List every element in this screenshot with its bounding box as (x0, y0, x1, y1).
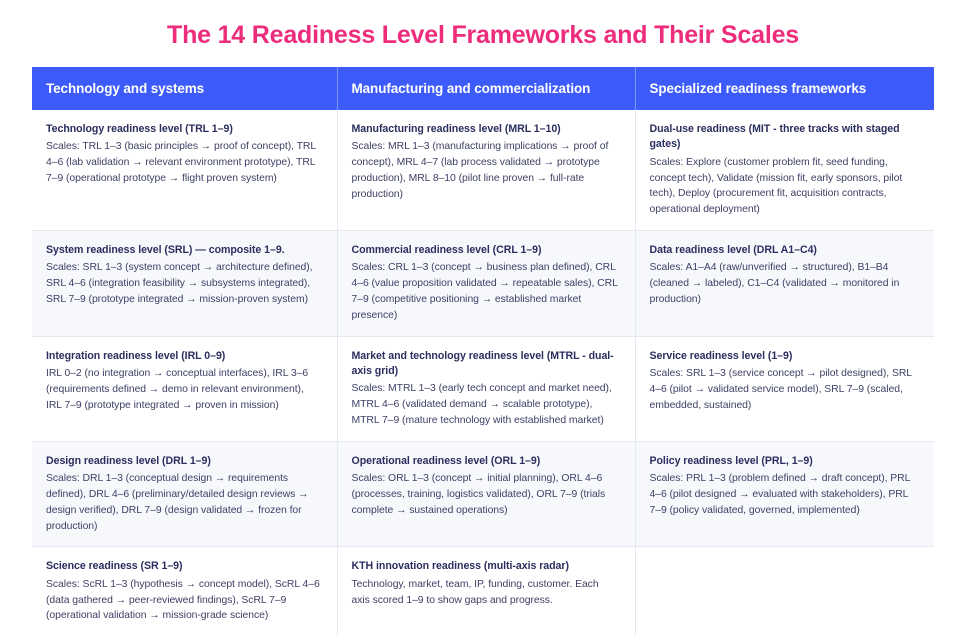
table-body: Technology readiness level (TRL 1–9) Sca… (32, 110, 934, 636)
table-cell-mrl: Manufacturing readiness level (MRL 1–10)… (337, 110, 635, 230)
cell-title: Service readiness level (1–9) (650, 349, 920, 364)
table-cell-kth: KTH innovation readiness (multi-axis rad… (337, 547, 635, 636)
cell-title: Policy readiness level (PRL, 1–9) (650, 454, 920, 469)
slide-root: The 14 Readiness Level Frameworks and Th… (0, 0, 966, 543)
cell-title: Dual-use readiness (MIT - three tracks w… (650, 122, 920, 153)
cell-body: Scales: SRL 1–3 (system concept → archit… (46, 260, 322, 307)
cell-body: Scales: TRL 1–3 (basic principles → proo… (46, 139, 322, 186)
table-cell-trl: Technology readiness level (TRL 1–9) Sca… (32, 110, 337, 230)
table-cell-crl: Commercial readiness level (CRL 1–9) Sca… (337, 230, 635, 336)
cell-body: Scales: PRL 1–3 (problem defined → draft… (650, 471, 920, 518)
cell-body: Technology, market, team, IP, funding, c… (352, 577, 620, 609)
cell-title: Operational readiness level (ORL 1–9) (352, 454, 620, 469)
column-header-technology-and-systems: Technology and systems (32, 67, 337, 110)
cell-body: Scales: ScRL 1–3 (hypothesis → concept m… (46, 577, 322, 624)
cell-body: Scales: ORL 1–3 (concept → initial plann… (352, 471, 620, 518)
cell-body: Scales: DRL 1–3 (conceptual design → req… (46, 471, 322, 534)
table-cell-design-rl: Design readiness level (DRL 1–9) Scales:… (32, 441, 337, 547)
table-cell-data-rl: Data readiness level (DRL A1–C4) Scales:… (635, 230, 934, 336)
cell-title: Manufacturing readiness level (MRL 1–10) (352, 122, 620, 137)
table-row: Design readiness level (DRL 1–9) Scales:… (32, 441, 934, 547)
cell-body: Scales: SRL 1–3 (service concept → pilot… (650, 366, 920, 413)
table-row: Technology readiness level (TRL 1–9) Sca… (32, 110, 934, 230)
table-cell-service-rl: Service readiness level (1–9) Scales: SR… (635, 336, 934, 441)
frameworks-table-container: Technology and systems Manufacturing and… (32, 67, 934, 636)
table-cell-science-rl: Science readiness (SR 1–9) Scales: ScRL … (32, 547, 337, 636)
table-cell-orl: Operational readiness level (ORL 1–9) Sc… (337, 441, 635, 547)
table-header: Technology and systems Manufacturing and… (32, 67, 934, 110)
page-title: The 14 Readiness Level Frameworks and Th… (0, 0, 966, 50)
cell-title: System readiness level (SRL) — composite… (46, 243, 322, 258)
table-cell-mtrl: Market and technology readiness level (M… (337, 336, 635, 441)
table-cell-irl: Integration readiness level (IRL 0–9) IR… (32, 336, 337, 441)
cell-body: Scales: MTRL 1–3 (early tech concept and… (352, 381, 620, 428)
cell-body: IRL 0–2 (no integration → conceptual int… (46, 366, 322, 413)
table-cell-empty (635, 547, 934, 636)
cell-body: Scales: Explore (customer problem fit, s… (650, 155, 920, 218)
cell-title: Market and technology readiness level (M… (352, 349, 620, 380)
cell-title: Science readiness (SR 1–9) (46, 559, 322, 574)
table-cell-dual-use: Dual-use readiness (MIT - three tracks w… (635, 110, 934, 230)
cell-title: Technology readiness level (TRL 1–9) (46, 122, 322, 137)
column-header-manufacturing-and-commercialization: Manufacturing and commercialization (337, 67, 635, 110)
cell-body: Scales: MRL 1–3 (manufacturing implicati… (352, 139, 620, 202)
table-row: System readiness level (SRL) — composite… (32, 230, 934, 336)
frameworks-table: Technology and systems Manufacturing and… (32, 67, 934, 636)
cell-body: Scales: A1–A4 (raw/unverified → structur… (650, 260, 920, 307)
table-cell-prl: Policy readiness level (PRL, 1–9) Scales… (635, 441, 934, 547)
header-row: Technology and systems Manufacturing and… (32, 67, 934, 110)
table-row: Science readiness (SR 1–9) Scales: ScRL … (32, 547, 934, 636)
cell-title: Data readiness level (DRL A1–C4) (650, 243, 920, 258)
column-header-specialized-readiness-frameworks: Specialized readiness frameworks (635, 67, 934, 110)
cell-title: Design readiness level (DRL 1–9) (46, 454, 322, 469)
table-row: Integration readiness level (IRL 0–9) IR… (32, 336, 934, 441)
cell-title: Integration readiness level (IRL 0–9) (46, 349, 322, 364)
cell-body: Scales: CRL 1–3 (concept → business plan… (352, 260, 620, 323)
table-cell-srl: System readiness level (SRL) — composite… (32, 230, 337, 336)
cell-title: Commercial readiness level (CRL 1–9) (352, 243, 620, 258)
cell-title: KTH innovation readiness (multi-axis rad… (352, 559, 620, 574)
